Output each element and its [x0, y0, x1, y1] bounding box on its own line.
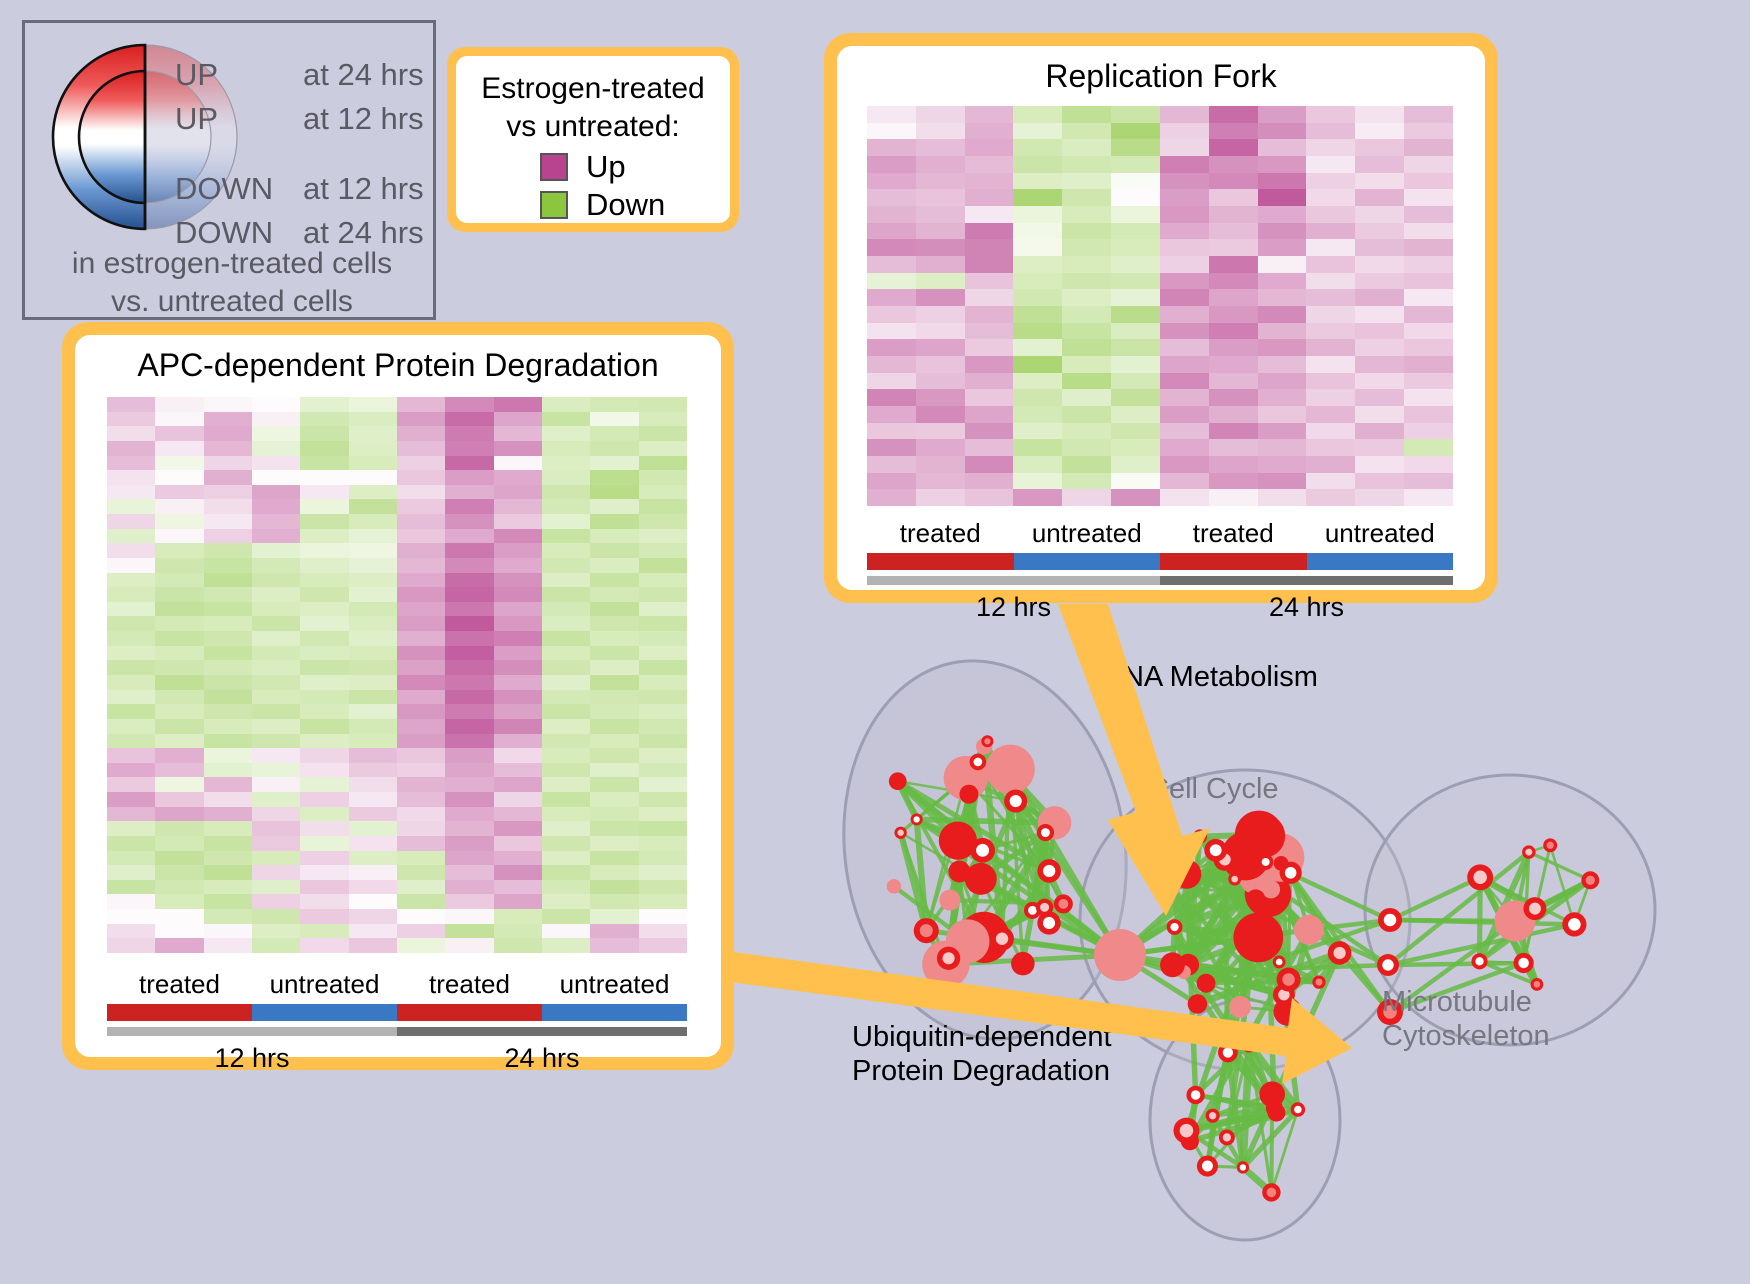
heatmap-cell [155, 499, 203, 514]
network-node-core [1043, 917, 1055, 929]
heatmap-cell [155, 821, 203, 836]
heatmap-cell [155, 573, 203, 588]
heatmap-cell [494, 573, 542, 588]
heatmap-cell [590, 485, 638, 500]
heatmap-cell [155, 865, 203, 880]
heatmap-cell [1306, 373, 1355, 390]
heatmap-cell [1160, 273, 1209, 290]
heatmap-cell [1013, 123, 1062, 140]
network-node-core [1586, 876, 1595, 885]
heatmap-cell [349, 529, 397, 544]
network-node [1267, 1104, 1285, 1122]
heatmap-cell [1013, 239, 1062, 256]
heatmap-cell [1404, 139, 1453, 156]
heatmap-cell [639, 894, 687, 909]
heatmap-cell [1306, 239, 1355, 256]
heatmap-cell [204, 807, 252, 822]
heatmap-cell [494, 631, 542, 646]
heatmap-cell [155, 734, 203, 749]
key-title-line-1: Estrogen-treated [466, 70, 720, 108]
heatmap-cell [1111, 423, 1160, 440]
heatmap-cell [1160, 206, 1209, 223]
network-node [1011, 952, 1035, 976]
heatmap-cell [397, 602, 445, 617]
network-node-core [1285, 867, 1297, 879]
heatmap-cell [494, 412, 542, 427]
heatmap-cell [1258, 123, 1307, 140]
heatmap-cell [542, 894, 590, 909]
heatmap-cell [1111, 273, 1160, 290]
heatmap-cell [397, 412, 445, 427]
heatmap-cell [639, 719, 687, 734]
heatmap-cell [1209, 273, 1258, 290]
heatmap-cell [1209, 156, 1258, 173]
network-node-core [897, 830, 903, 836]
heatmap-cell [1062, 423, 1111, 440]
key-item-down: Down [540, 188, 720, 222]
heatmap-cell [300, 485, 348, 500]
down-color-swatch [540, 191, 568, 219]
heatmap-cell [542, 397, 590, 412]
heatmap-cell [155, 675, 203, 690]
heatmap-cell [252, 616, 300, 631]
heatmap-cell [1355, 106, 1404, 123]
heatmap-cell [916, 356, 965, 373]
heatmap-cell [155, 763, 203, 778]
heatmap-cell [1306, 456, 1355, 473]
heatmap-cell [155, 646, 203, 661]
heatmap-cell [1258, 239, 1307, 256]
heatmap-cell [349, 894, 397, 909]
heatmap-cell [300, 909, 348, 924]
heatmap-cell [1258, 373, 1307, 390]
network-node-core [920, 924, 933, 937]
network-node [939, 890, 960, 911]
group-bar-segment [397, 1004, 542, 1021]
heatmap-cell [542, 602, 590, 617]
heatmap-cell [349, 558, 397, 573]
group-bar-segment [1014, 553, 1161, 570]
heatmap-cell [542, 748, 590, 763]
network-node-core [1043, 865, 1055, 877]
heatmap-cell [639, 821, 687, 836]
heatmap-cell [639, 412, 687, 427]
heatmap-cell [494, 909, 542, 924]
heatmap-cell [397, 719, 445, 734]
heatmap-cell [1160, 306, 1209, 323]
network-node [1163, 879, 1180, 896]
heatmap-cell [445, 792, 493, 807]
heatmap-cell [445, 412, 493, 427]
heatmap-cell [1355, 423, 1404, 440]
heatmap-cell [1209, 139, 1258, 156]
heatmap-cell [494, 851, 542, 866]
heatmap-cell [1306, 339, 1355, 356]
heatmap-cell [1209, 423, 1258, 440]
heatmap-cell [397, 792, 445, 807]
heatmap-cell [1111, 306, 1160, 323]
heatmap-cell [590, 529, 638, 544]
heatmap-cell [252, 807, 300, 822]
time-color-bar [107, 1027, 687, 1036]
heatmap-cell [349, 587, 397, 602]
heatmap-cell [1404, 439, 1453, 456]
heatmap-cell [349, 865, 397, 880]
heatmap-cell [397, 631, 445, 646]
heatmap-cell [300, 807, 348, 822]
heatmap-cell [445, 616, 493, 631]
heatmap-cell [397, 441, 445, 456]
heatmap-cell [1404, 306, 1453, 323]
network-node [1188, 994, 1207, 1013]
heatmap-cell [107, 543, 155, 558]
heatmap-cell [1013, 106, 1062, 123]
heatmap-cell [1013, 173, 1062, 190]
heatmap-cell [494, 675, 542, 690]
heatmap-cell [252, 675, 300, 690]
heatmap-cell [590, 573, 638, 588]
heatmap-cell [867, 239, 916, 256]
heatmap-cell [155, 558, 203, 573]
heatmap-cell [494, 938, 542, 953]
heatmap-cell [252, 412, 300, 427]
heatmap-cell [1355, 239, 1404, 256]
heatmap-cell [252, 880, 300, 895]
heatmap-cell [155, 851, 203, 866]
heatmap-cell [107, 558, 155, 573]
heatmap-cell [867, 489, 916, 506]
heatmap-cell [1209, 389, 1258, 406]
heatmap-cell [590, 631, 638, 646]
heatmap-cell [300, 631, 348, 646]
heatmap-cell [1209, 189, 1258, 206]
heatmap-cell [639, 748, 687, 763]
heatmap-cell [916, 139, 965, 156]
heatmap-cell [252, 909, 300, 924]
heatmap-cell [1404, 189, 1453, 206]
time-bar-segment [107, 1027, 397, 1036]
heatmap-cell [107, 675, 155, 690]
heatmap-cell [155, 836, 203, 851]
heatmap-cell [445, 880, 493, 895]
heatmap-cell [349, 426, 397, 441]
heatmap-cell [494, 646, 542, 661]
heatmap-cell [542, 851, 590, 866]
heatmap-cell [916, 306, 965, 323]
key-item-up: Up [540, 150, 720, 184]
heatmap-cell [445, 631, 493, 646]
heatmap-cell [590, 587, 638, 602]
heatmap-cell [445, 807, 493, 822]
heatmap-cell [1111, 189, 1160, 206]
heatmap-cell [300, 675, 348, 690]
heatmap-cell [107, 704, 155, 719]
heatmap-cell [590, 851, 638, 866]
apc-degradation-panel: APC-dependent Protein Degradation treate… [62, 322, 734, 1070]
heatmap-cell [204, 587, 252, 602]
heatmap-cell [397, 777, 445, 792]
heatmap-cell [965, 339, 1014, 356]
heatmap-cell [397, 763, 445, 778]
heatmap-cell [965, 373, 1014, 390]
group-labels: treated untreated treated untreated [867, 516, 1453, 550]
heatmap-cell [542, 880, 590, 895]
heatmap-cell [300, 719, 348, 734]
heatmap-cell [155, 426, 203, 441]
heatmap-cell [494, 734, 542, 749]
heatmap-cell [1258, 173, 1307, 190]
heatmap-cell [204, 909, 252, 924]
heatmap-cell [252, 646, 300, 661]
heatmap-cell [445, 529, 493, 544]
heatmap-cell [1306, 306, 1355, 323]
network-node-core [1267, 1188, 1277, 1198]
heatmap-cell [639, 777, 687, 792]
heatmap-cell [349, 748, 397, 763]
network-node [887, 879, 901, 893]
heatmap-cell [1404, 456, 1453, 473]
network-node-core [1010, 795, 1022, 807]
heatmap-cell [349, 441, 397, 456]
heatmap-cell [204, 514, 252, 529]
heatmap-cell [1209, 439, 1258, 456]
heatmap-cell [445, 851, 493, 866]
heatmap-cell [445, 924, 493, 939]
heatmap-cell [349, 938, 397, 953]
heatmap-cell [397, 485, 445, 500]
heatmap-cell [107, 938, 155, 953]
heatmap-cell [300, 529, 348, 544]
heatmap-cell [397, 397, 445, 412]
heatmap-cell [397, 821, 445, 836]
heatmap-cell [204, 631, 252, 646]
heatmap-cell [204, 938, 252, 953]
heatmap-cell [349, 499, 397, 514]
heatmap-cell [494, 836, 542, 851]
heatmap-cell [204, 499, 252, 514]
heatmap-cell [494, 748, 542, 763]
heatmap-cell [155, 514, 203, 529]
heatmap-cell [1160, 289, 1209, 306]
heatmap-cell [107, 660, 155, 675]
cluster-label-dna-metabolism: DNA Metabolism [1102, 660, 1318, 694]
heatmap-cell [1062, 139, 1111, 156]
heatmap-cell [590, 558, 638, 573]
heatmap-cell [107, 924, 155, 939]
heatmap-cell [494, 616, 542, 631]
ring-legend-caption: in estrogen-treated cells vs. untreated … [25, 245, 439, 321]
heatmap-cell [300, 938, 348, 953]
heatmap-cell [397, 499, 445, 514]
heatmap-cell [590, 734, 638, 749]
time-bar-segment [1160, 576, 1453, 585]
heatmap-cell [965, 356, 1014, 373]
heatmap-cell [107, 514, 155, 529]
heatmap-cell [445, 587, 493, 602]
heatmap-cell [1062, 439, 1111, 456]
heatmap-cell [639, 660, 687, 675]
heatmap-cell [252, 938, 300, 953]
heatmap-cell [1404, 106, 1453, 123]
heatmap-cell [639, 675, 687, 690]
heatmap-cell [494, 426, 542, 441]
heatmap-cell [107, 529, 155, 544]
network-node-core [1384, 914, 1396, 926]
heatmap-cell [107, 441, 155, 456]
heatmap-cell [1013, 389, 1062, 406]
heatmap-cell [1355, 439, 1404, 456]
heatmap-cell [1111, 489, 1160, 506]
heatmap-cell [542, 719, 590, 734]
heatmap-cell [1209, 289, 1258, 306]
heatmap-cell [1062, 273, 1111, 290]
heatmap-cell [252, 631, 300, 646]
heatmap-cell [1404, 356, 1453, 373]
heatmap-cell [349, 631, 397, 646]
heatmap-cell [397, 880, 445, 895]
group-label: treated [1160, 516, 1307, 550]
heatmap-cell [542, 587, 590, 602]
heatmap-cell [494, 543, 542, 558]
heatmap-cell [590, 441, 638, 456]
heatmap-cell [542, 529, 590, 544]
heatmap-cell [107, 894, 155, 909]
heatmap-cell [300, 573, 348, 588]
heatmap-cell [252, 470, 300, 485]
network-node-core [1518, 958, 1528, 968]
heatmap-cell [1306, 173, 1355, 190]
heatmap-cell [155, 792, 203, 807]
heatmap-cell [1013, 306, 1062, 323]
heatmap-cell [107, 485, 155, 500]
heatmap-cell [252, 851, 300, 866]
heatmap-cell [639, 763, 687, 778]
heatmap-cell [1062, 456, 1111, 473]
heatmap-cell [204, 880, 252, 895]
heatmap-cell [155, 616, 203, 631]
heatmap-cell [1404, 273, 1453, 290]
heatmap-cell [639, 616, 687, 631]
network-node [948, 861, 970, 883]
heatmap-cell [1258, 356, 1307, 373]
replication-fork-inner: Replication Fork treated untreated treat… [837, 46, 1485, 590]
heatmap-cell [1209, 323, 1258, 340]
heatmap-cell [542, 777, 590, 792]
heatmap-cell [445, 499, 493, 514]
heatmap-cell [204, 456, 252, 471]
heatmap-cell [542, 734, 590, 749]
heatmap-cell [542, 558, 590, 573]
heatmap-cell [300, 412, 348, 427]
heatmap-cell [542, 631, 590, 646]
heatmap-cell [1111, 389, 1160, 406]
heatmap-cell [494, 470, 542, 485]
heatmap-cell [349, 851, 397, 866]
heatmap-cell [1209, 373, 1258, 390]
heatmap-cell [300, 397, 348, 412]
heatmap-cell [1013, 289, 1062, 306]
heatmap-cell [916, 456, 965, 473]
heatmap-cell [397, 807, 445, 822]
heatmap-cell [1062, 223, 1111, 240]
heatmap-cell [1404, 256, 1453, 273]
heatmap-cell [1111, 406, 1160, 423]
heatmap-cell [1160, 223, 1209, 240]
heatmap-cell [300, 426, 348, 441]
heatmap-cell [590, 675, 638, 690]
heatmap-cell [639, 456, 687, 471]
heatmap-cell [1258, 256, 1307, 273]
heatmap-cell [1258, 456, 1307, 473]
heatmap-cell [965, 306, 1014, 323]
ring-direction: DOWN [175, 167, 303, 211]
heatmap-cell [204, 426, 252, 441]
heatmap-cell [155, 909, 203, 924]
heatmap-cell [445, 865, 493, 880]
heatmap-cell [965, 206, 1014, 223]
heatmap-cell [1355, 339, 1404, 356]
heatmap-cell [916, 389, 965, 406]
heatmap-cell [916, 173, 965, 190]
heatmap-cell [1306, 189, 1355, 206]
heatmap-cell [1355, 123, 1404, 140]
ring-legend-rows: UP at 24 hrs UP at 12 hrs DOWN at 12 hrs… [175, 53, 425, 255]
heatmap-cell [1111, 339, 1160, 356]
heatmap-cell [445, 938, 493, 953]
heatmap-cell [1013, 473, 1062, 490]
network-node-core [1316, 979, 1323, 986]
heatmap-cell [252, 821, 300, 836]
heatmap-cell [542, 543, 590, 558]
heatmap-cell [867, 206, 916, 223]
heatmap-cell [965, 173, 1014, 190]
replication-fork-axis: treated untreated treated untreated 12 h [867, 516, 1453, 625]
heatmap-cell [590, 543, 638, 558]
heatmap-cell [590, 880, 638, 895]
heatmap-cell [1160, 139, 1209, 156]
heatmap-cell [867, 339, 916, 356]
heatmap-cell [300, 646, 348, 661]
heatmap-cell [494, 587, 542, 602]
heatmap-cell [639, 851, 687, 866]
heatmap-cell [639, 558, 687, 573]
heatmap-cell [349, 880, 397, 895]
heatmap-cell [107, 821, 155, 836]
heatmap-cell [965, 439, 1014, 456]
heatmap-cell [107, 836, 155, 851]
heatmap-cell [916, 439, 965, 456]
heatmap-cell [1209, 223, 1258, 240]
heatmap-cell [155, 777, 203, 792]
heatmap-cell [204, 865, 252, 880]
heatmap-cell [445, 558, 493, 573]
ring-spacer [175, 141, 425, 167]
heatmap-cell [494, 499, 542, 514]
heatmap-cell [155, 807, 203, 822]
group-color-bar [107, 1004, 687, 1021]
updown-key-title: Estrogen-treated vs untreated: [466, 70, 720, 146]
key-title-line-2: vs untreated: [466, 108, 720, 146]
heatmap-cell [1355, 273, 1404, 290]
heatmap-cell [1160, 106, 1209, 123]
network-node-core [1333, 947, 1345, 959]
group-bar-segment [1307, 553, 1454, 570]
heatmap-cell [1306, 256, 1355, 273]
heatmap-cell [1306, 123, 1355, 140]
heatmap-cell [542, 924, 590, 939]
heatmap-cell [445, 543, 493, 558]
heatmap-cell [916, 339, 965, 356]
